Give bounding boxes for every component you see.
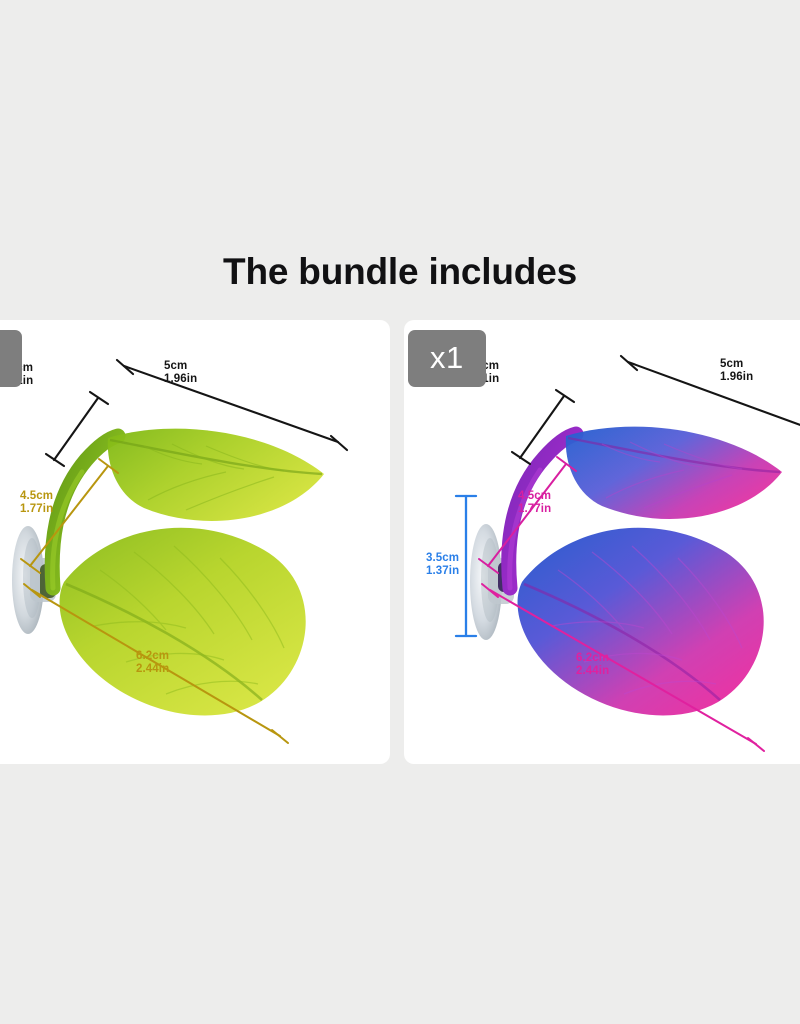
dimension-cm: 4.5cm (518, 490, 551, 502)
dimension-cm: 6.2cm (136, 650, 169, 662)
product-image-green: 5cm 1.96in 3.6cm 1.41in 4.5cm 1.77in 6.2… (0, 320, 390, 764)
dimension-in: 1.77in (20, 503, 53, 516)
quantity-badge-green: x2 (0, 330, 22, 387)
dimension-in: 1.77in (518, 503, 551, 516)
dimension-label-stem-height-blue-pink: 4.5cm 1.77in (518, 490, 551, 516)
dimension-label-stem-height-green: 4.5cm 1.77in (20, 490, 53, 516)
dimension-label-overall-span-blue-pink: 6.2cm 2.44in (576, 652, 609, 678)
dimension-in: 1.96in (164, 373, 197, 386)
dimension-cm: 5cm (720, 358, 743, 370)
bundle-page: The bundle includes x2 (0, 0, 800, 1024)
quantity-badge-blue-pink: x1 (408, 330, 486, 387)
dimension-in: 2.44in (136, 663, 169, 676)
green-leaf-illustration (0, 320, 390, 764)
dimension-in: 1.96in (720, 371, 753, 384)
dimension-label-leaf-length-green: 5cm 1.96in (164, 360, 197, 386)
dimension-in: 1.37in (426, 565, 459, 578)
dimension-cm: 4.5cm (20, 490, 53, 502)
bundle-card-blue-pink[interactable]: x1 (404, 320, 800, 764)
dimension-cm: 3.5cm (426, 552, 459, 564)
dimension-cm: 6.2cm (576, 652, 609, 664)
dimension-label-suction-cup-height-blue-pink: 3.5cm 1.37in (426, 552, 459, 578)
page-title: The bundle includes (0, 248, 800, 296)
dimension-cm: 5cm (164, 360, 187, 372)
dimension-label-overall-span-green: 6.2cm 2.44in (136, 650, 169, 676)
dimension-in: 2.44in (576, 665, 609, 678)
bundle-card-list: x2 (0, 320, 800, 764)
dimension-label-leaf-length-blue-pink: 5cm 1.96in (720, 358, 753, 384)
bundle-card-green[interactable]: x2 (0, 320, 390, 764)
